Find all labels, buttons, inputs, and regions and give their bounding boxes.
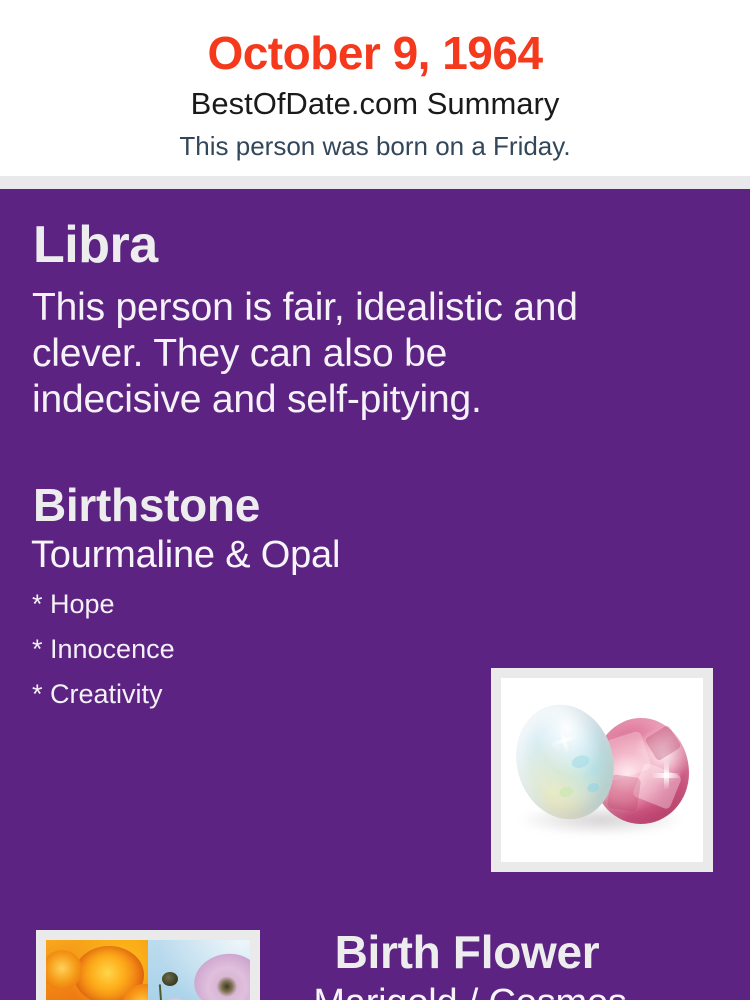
marigold-photo-half	[46, 940, 148, 1000]
zodiac-description: This person is fair, idealistic and clev…	[32, 285, 612, 423]
sparkle-icon	[548, 724, 580, 756]
gemstone-illustration	[501, 678, 703, 862]
fleck	[586, 782, 600, 794]
site-summary-label: BestOfDate.com Summary	[0, 85, 750, 123]
birthstone-trait-list: * Hope * Innocence * Creativity	[32, 582, 175, 717]
facet	[644, 725, 682, 762]
birthstone-image	[491, 668, 713, 872]
page-title-date: October 9, 1964	[0, 24, 750, 82]
birthstone-heading: Birthstone	[33, 477, 260, 533]
fleck	[570, 753, 591, 769]
list-item: * Hope	[32, 582, 175, 627]
birth-weekday-note: This person was born on a Friday.	[0, 129, 750, 163]
birth-flower-names: Marigold / Cosmos	[284, 980, 656, 1000]
birthstone-names: Tourmaline & Opal	[31, 532, 340, 578]
sparkle-icon	[651, 760, 681, 790]
details-panel: Libra This person is fair, idealistic an…	[0, 189, 750, 1000]
fleck	[558, 785, 574, 798]
header-divider	[0, 176, 750, 189]
flower-bud	[162, 972, 178, 986]
list-item: * Innocence	[32, 627, 175, 672]
birth-flower-image-inner	[46, 940, 250, 1000]
birthstone-image-inner	[501, 678, 703, 862]
birth-flower-heading: Birth Flower	[284, 924, 650, 980]
card-header: October 9, 1964 BestOfDate.com Summary T…	[0, 0, 750, 176]
cosmos-photo-half	[148, 940, 250, 1000]
zodiac-sign-title: Libra	[33, 215, 158, 275]
list-item: * Creativity	[32, 672, 175, 717]
summary-card: October 9, 1964 BestOfDate.com Summary T…	[0, 0, 750, 1000]
flower-split-illustration	[46, 940, 250, 1000]
birth-flower-image	[36, 930, 260, 1000]
